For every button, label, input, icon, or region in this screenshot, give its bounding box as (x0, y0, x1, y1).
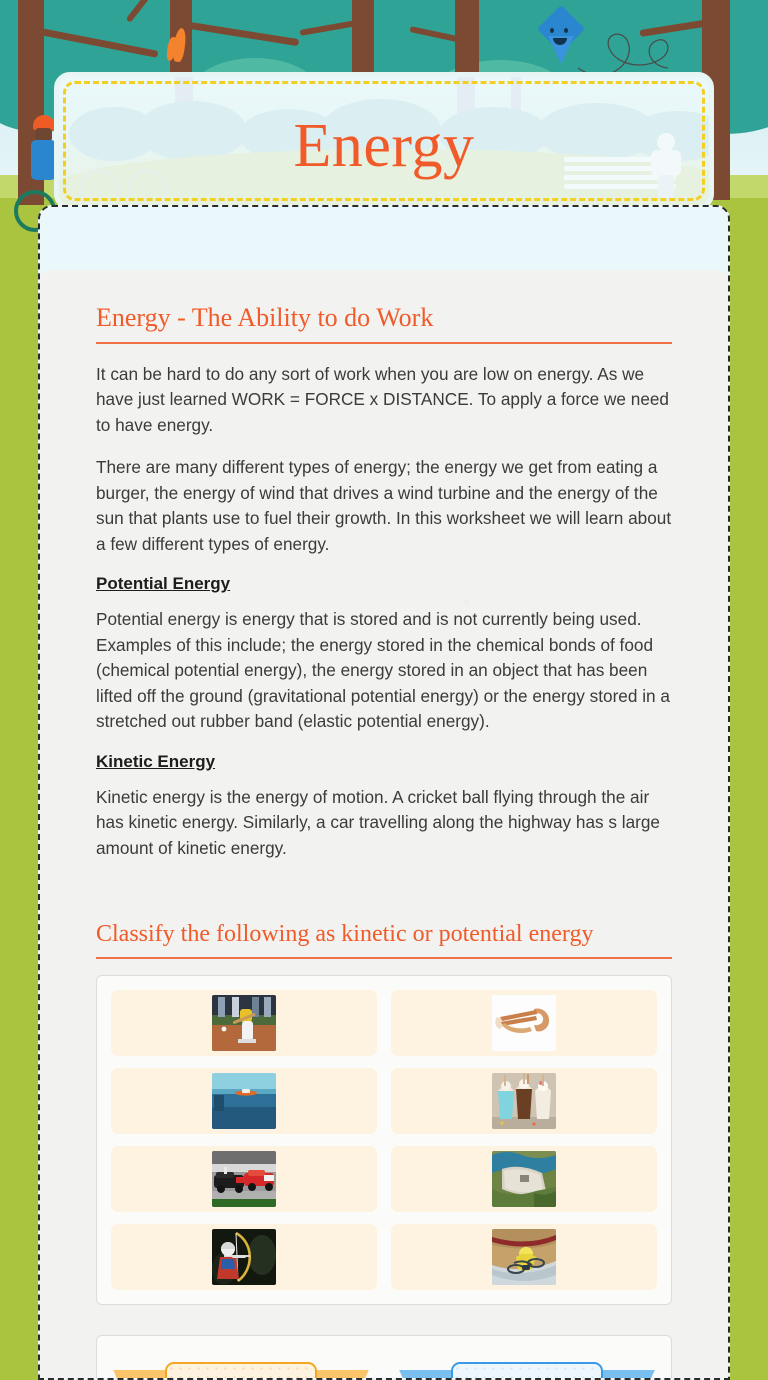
race-cars-image[interactable] (212, 1151, 276, 1207)
worksheet-content: Energy - The Ability to do Work It can b… (40, 270, 728, 1380)
kinetic-dropzone[interactable]: Kinetic (399, 1354, 655, 1380)
slingshot-image[interactable] (492, 995, 556, 1051)
list-item[interactable] (391, 990, 657, 1056)
park-scene-background: Energy Energy - The Ability to do Work I… (0, 0, 768, 1380)
archer-image[interactable] (212, 1229, 276, 1285)
list-item[interactable] (111, 1068, 377, 1134)
dropzones-section: Potential Kinetic (96, 1335, 672, 1380)
kinetic-ribbon[interactable]: Kinetic (399, 1354, 655, 1380)
track-cyclist-image[interactable] (492, 1229, 556, 1285)
list-item[interactable] (111, 990, 377, 1056)
list-item[interactable] (111, 1224, 377, 1290)
potential-label: Potential (165, 1362, 317, 1380)
section-heading-rule (96, 342, 672, 344)
potential-ribbon[interactable]: Potential (113, 1354, 369, 1380)
classify-section: Classify the following as kinetic or pot… (96, 921, 672, 1305)
potential-energy-paragraph: Potential energy is energy that is store… (96, 607, 672, 735)
potential-energy-subheading: Potential Energy (96, 574, 230, 594)
list-item[interactable] (111, 1146, 377, 1212)
list-item[interactable] (391, 1224, 657, 1290)
cyclist-body (31, 140, 56, 180)
intro-paragraph-1: It can be hard to do any sort of work wh… (96, 362, 672, 439)
milkshakes-image[interactable] (492, 1073, 556, 1129)
page-title: Energy (59, 77, 709, 210)
intro-paragraph-2: There are many different types of energy… (96, 455, 672, 557)
kinetic-energy-subheading: Kinetic Energy (96, 752, 215, 772)
section-heading: Energy - The Ability to do Work (96, 303, 672, 342)
classify-cards-container (96, 975, 672, 1305)
kinetic-energy-paragraph: Kinetic energy is the energy of motion. … (96, 785, 672, 862)
classify-heading-rule (96, 957, 672, 959)
baseball-batter-image[interactable] (212, 995, 276, 1051)
classify-card-grid (111, 990, 657, 1290)
potential-dropzone[interactable]: Potential (113, 1354, 369, 1380)
worksheet-panel: Energy - The Ability to do Work It can b… (38, 205, 730, 1380)
kinetic-label: Kinetic (451, 1362, 603, 1380)
list-item[interactable] (391, 1068, 657, 1134)
dropzones-container: Potential Kinetic (96, 1335, 672, 1380)
boat-on-water-image[interactable] (212, 1073, 276, 1129)
worksheet-title-card: Energy (54, 72, 714, 210)
dam-image[interactable] (492, 1151, 556, 1207)
list-item[interactable] (391, 1146, 657, 1212)
classify-heading: Classify the following as kinetic or pot… (96, 921, 672, 957)
worksheet-top-band (40, 207, 728, 275)
